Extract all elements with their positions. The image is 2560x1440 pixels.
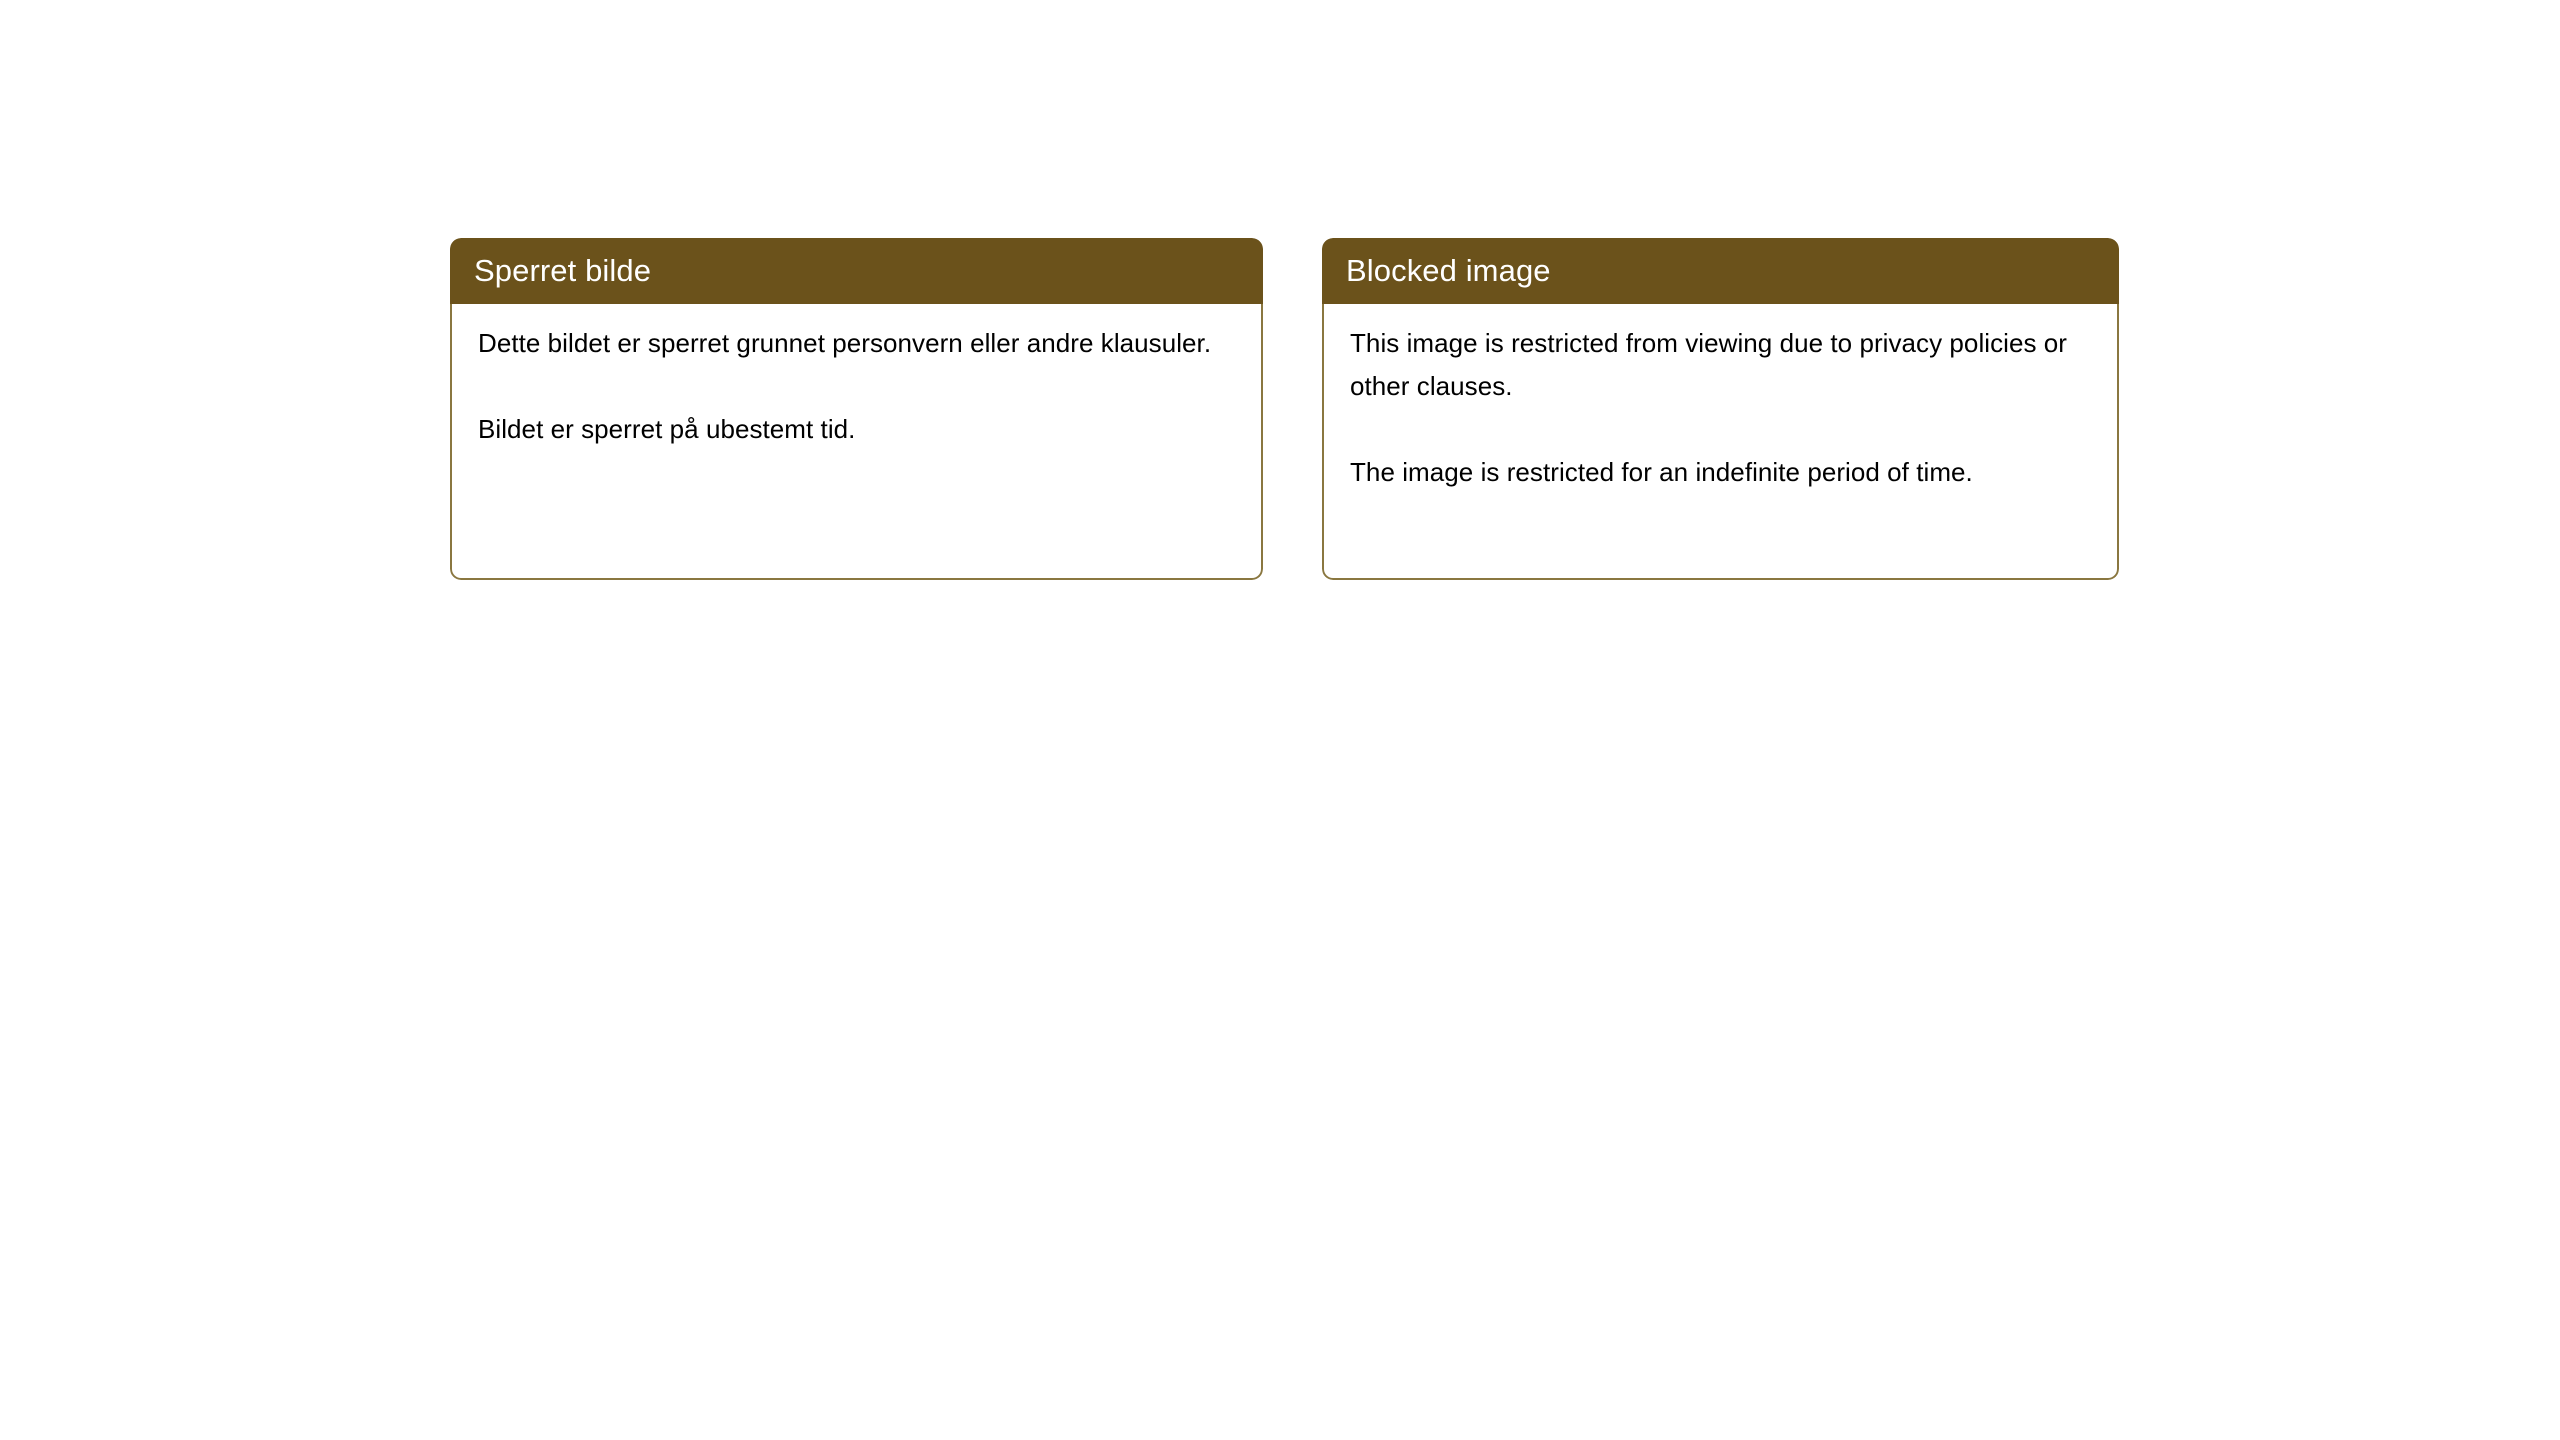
card-paragraph-duration-no: Bildet er sperret på ubestemt tid. bbox=[478, 408, 1239, 451]
card-title-no: Sperret bilde bbox=[474, 254, 651, 288]
card-header-en: Blocked image bbox=[1322, 238, 2119, 304]
card-paragraph-duration-en: The image is restricted for an indefinit… bbox=[1350, 451, 2095, 494]
card-paragraph-reason-no: Dette bildet er sperret grunnet personve… bbox=[478, 322, 1239, 365]
page-canvas: Sperret bilde Dette bildet er sperret gr… bbox=[0, 0, 2560, 1440]
blocked-image-notice-card-en: Blocked image This image is restricted f… bbox=[1322, 238, 2119, 580]
card-paragraph-reason-en: This image is restricted from viewing du… bbox=[1350, 322, 2095, 408]
card-header-no: Sperret bilde bbox=[450, 238, 1263, 304]
card-body-no: Dette bildet er sperret grunnet personve… bbox=[450, 304, 1263, 580]
card-title-en: Blocked image bbox=[1346, 254, 1551, 288]
blocked-image-notice-card-no: Sperret bilde Dette bildet er sperret gr… bbox=[450, 238, 1263, 580]
card-body-en: This image is restricted from viewing du… bbox=[1322, 304, 2119, 580]
